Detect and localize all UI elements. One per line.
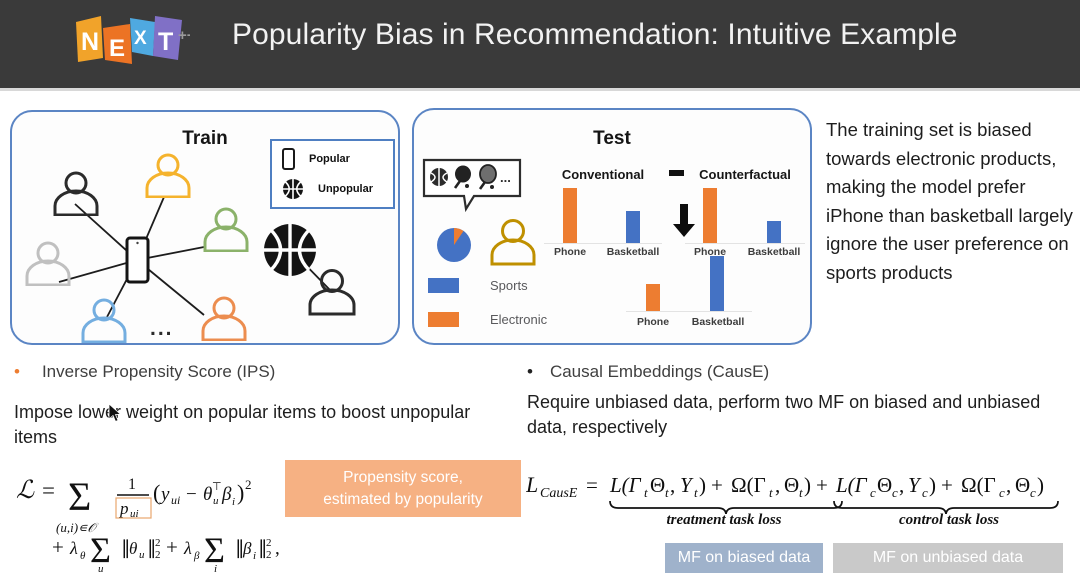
chart-result-bars [626,254,752,312]
bar-phone [703,188,717,243]
svg-text:L: L [526,472,538,497]
page-title: Popularity Bias in Recommendation: Intui… [232,18,958,52]
svg-text:=: = [42,478,55,503]
chart-conventional-bars [544,186,662,244]
svg-text:c: c [999,485,1005,500]
svg-text:): ) [237,480,244,505]
swatch-sports [428,278,459,293]
svg-text:u: u [139,549,145,561]
train-ellipsis: ... [150,317,174,341]
svg-text:Ω(Γ: Ω(Γ [961,473,996,497]
mf-biased-callout: MF on biased data [665,543,823,573]
person-gold [488,218,538,266]
svg-text:i: i [253,550,256,562]
chart-counterfactual-title: Counterfactual [685,167,805,182]
slide-header: N E X T ++ Popularity Bias in Recommenda… [0,0,1080,88]
test-legend-label-electronic: Electronic [490,312,547,327]
test-panel-title: Test [414,128,810,150]
svg-text:p: p [119,499,129,518]
svg-text:+: + [166,535,178,559]
svg-text:c: c [922,485,928,500]
train-panel: Train Popular Unpopular [10,110,400,345]
propensity-callout-line2: estimated by popularity [323,489,482,511]
svg-text:,: , [275,538,280,559]
chart-counterfactual-bars [685,186,805,244]
svg-text:T: T [158,28,173,56]
svg-text:): ) [804,473,811,497]
svg-text:−: − [186,484,197,505]
svg-text:1: 1 [128,476,136,493]
svg-text:t: t [644,485,648,500]
volleyball-icon [430,168,448,186]
person-orange [198,295,250,341]
svg-text:2: 2 [266,549,272,561]
phone-icon-hub [125,236,150,284]
svg-text:t: t [799,485,803,500]
svg-text:β: β [242,539,252,558]
svg-text:X: X [134,28,147,49]
ips-heading-row: • Inverse Propensity Score (IPS) [14,362,275,382]
svg-text:Θ: Θ [650,473,665,497]
svg-text:i: i [232,496,235,508]
person-yellow [142,152,194,198]
chart-counterfactual: Counterfactual Phone Basketball [685,167,805,259]
svg-text:t: t [665,485,669,500]
svg-text:): ) [929,473,936,497]
chart-conventional: Conventional Phone Basketball [544,167,662,259]
svg-text:CausE: CausE [540,486,578,501]
ips-formula: ℒ = Σ (u,i)∊𝒪 1 p ui ( y ui − θ u ⊤ β i … [16,462,306,580]
svg-text:i: i [214,563,217,574]
swatch-electronic [428,312,459,327]
svg-text:c: c [1030,485,1036,500]
cause-formula-math: L CausE = L(Γ t Θ t , Y t ) + Ω(Γ t , Θ … [526,466,1078,514]
bar-basketball [710,256,724,311]
speech-bubble: ... [422,158,522,212]
person-green [200,206,252,252]
svg-text:λ: λ [183,538,192,558]
test-panel: Test ... Sports Electron [412,108,812,345]
bar-basketball [626,211,640,243]
preference-pie-chart [434,225,474,265]
svg-text:c: c [870,485,876,500]
svg-text:N: N [81,28,99,56]
svg-text:ui: ui [171,493,180,507]
bar-label-phone: Phone [637,316,669,328]
svg-text:Y: Y [908,473,922,497]
propensity-callout-line1: Propensity score, [343,467,463,489]
svg-text:L(Γ: L(Γ [835,473,868,497]
svg-text:Ω(Γ: Ω(Γ [731,473,766,497]
svg-text:y: y [159,484,170,505]
svg-text:t: t [694,485,698,500]
svg-text:(: ( [153,480,160,505]
svg-text:c: c [892,485,898,500]
minus-operator-icon [669,170,684,176]
svg-text:): ) [1037,473,1044,497]
svg-text:2: 2 [245,477,252,492]
svg-text:ℒ: ℒ [16,477,35,504]
svg-text:=: = [586,473,598,497]
explanation-text: The training set is biased towards elect… [826,116,1076,287]
ips-bullet-icon: • [14,362,20,382]
person-blue [78,297,130,343]
svg-text:+: + [711,473,723,497]
svg-text:ui: ui [130,508,139,520]
svg-text:θ: θ [129,539,137,558]
svg-text:Θ: Θ [877,473,892,497]
svg-text:,: , [1006,473,1011,497]
svg-text:⊤: ⊤ [212,481,222,493]
bar-phone [646,284,660,311]
brace-label-treatment: treatment task loss [666,512,781,529]
svg-text:β: β [221,484,232,505]
ips-body: Impose lower weight on popular items to … [14,400,514,450]
svg-text:,: , [899,473,904,497]
bubble-ellipsis: ... [500,170,511,185]
down-arrow-icon [672,204,696,238]
test-legend-label-sports: Sports [490,278,528,293]
person-black [48,170,104,216]
ips-heading: Inverse Propensity Score (IPS) [42,362,275,382]
svg-text:θ: θ [80,550,86,562]
svg-text:t: t [769,485,773,500]
test-legend-item-electronic: Electronic [428,312,547,327]
svg-text:Θ: Θ [1015,473,1030,497]
svg-text:): ) [699,473,706,497]
svg-text:β: β [193,550,200,562]
chart-conventional-title: Conventional [544,167,662,182]
bar-label-basketball: Basketball [692,316,745,328]
next-plus-plus-logo: N E X T ++ [74,14,190,66]
svg-text:u: u [213,495,219,507]
svg-text:,: , [670,473,675,497]
chart-result: Phone Basketball [626,250,752,342]
svg-text:,: , [775,473,780,497]
bar-basketball [767,221,781,243]
svg-text:θ: θ [203,484,212,505]
mf-unbiased-callout: MF on unbiased data [833,543,1063,573]
bar-label-basketball: Basketball [748,246,801,258]
brace-label-control: control task loss [899,512,999,529]
svg-text:+: + [941,473,953,497]
svg-text:Θ: Θ [784,473,799,497]
svg-text:2: 2 [155,549,161,561]
cause-body: Require unbiased data, perform two MF on… [527,390,1072,440]
cause-heading-row: • Causal Embeddings (CausE) [527,362,769,382]
header-divider [0,88,1080,91]
person-isolated-black [304,268,360,316]
bar-phone [563,188,577,243]
svg-text:+: + [816,473,828,497]
svg-text:u: u [98,563,104,574]
svg-text:λ: λ [69,538,78,558]
svg-text:+: + [52,535,64,559]
svg-text:L(Γ: L(Γ [609,473,642,497]
svg-text:Y: Y [680,473,694,497]
svg-text:2: 2 [155,537,161,549]
svg-text:2: 2 [266,537,272,549]
test-legend-item-sports: Sports [428,278,528,293]
svg-text:E: E [109,35,125,62]
svg-text:Σ: Σ [68,474,91,519]
cause-heading: Causal Embeddings (CausE) [550,362,769,382]
cause-bullet-icon: • [527,362,533,382]
mouse-cursor [108,403,122,423]
bar-label-phone: Phone [554,246,586,258]
person-gray [22,240,74,286]
svg-text:++: ++ [178,27,190,44]
propensity-callout: Propensity score, estimated by popularit… [285,460,521,517]
ips-formula-math: ℒ = Σ (u,i)∊𝒪 1 p ui ( y ui − θ u ⊤ β i … [16,462,306,574]
